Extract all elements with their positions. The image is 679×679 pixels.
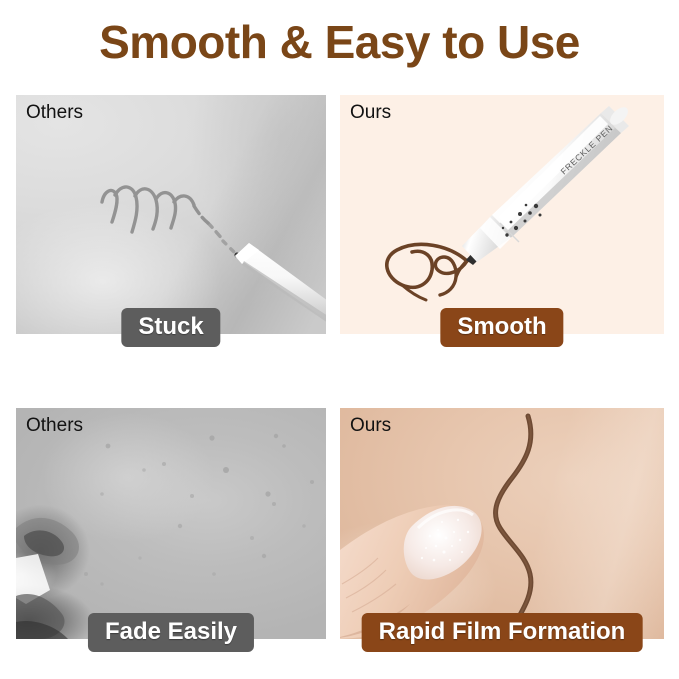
panel-others-fade-image — [16, 408, 326, 639]
panel-ours-smooth-image: FRECKLE PEN — [340, 95, 664, 334]
badge-stuck: Stuck — [121, 308, 220, 347]
panel-others-fade-label: Others — [26, 414, 83, 438]
faded-freckles-illustration — [16, 408, 326, 639]
panel-ours-rapid-label: Ours — [350, 414, 391, 438]
badge-smooth: Smooth — [440, 308, 563, 347]
panel-ours-smooth-label: Ours — [350, 101, 391, 125]
freckle-pen-illustration: FRECKLE PEN — [340, 95, 664, 334]
panel-others-stuck-image — [16, 95, 326, 334]
badge-fade-easily: Fade Easily — [88, 613, 254, 652]
panel-ours-smooth: FRECKLE PEN Ours Smooth — [340, 95, 664, 334]
panel-others-stuck-label: Others — [26, 101, 83, 125]
panel-ours-rapid-image — [340, 408, 664, 639]
panel-ours-rapid: Ours Rapid Film Formation — [340, 408, 664, 639]
rapid-film-illustration — [340, 408, 664, 639]
panel-others-stuck: Others Stuck — [16, 95, 326, 334]
badge-rapid-film-formation: Rapid Film Formation — [362, 613, 643, 652]
panel-others-fade: Others Fade Easily — [16, 408, 326, 639]
stuck-squiggle-illustration — [16, 95, 326, 334]
page-title: Smooth & Easy to Use — [0, 14, 679, 70]
